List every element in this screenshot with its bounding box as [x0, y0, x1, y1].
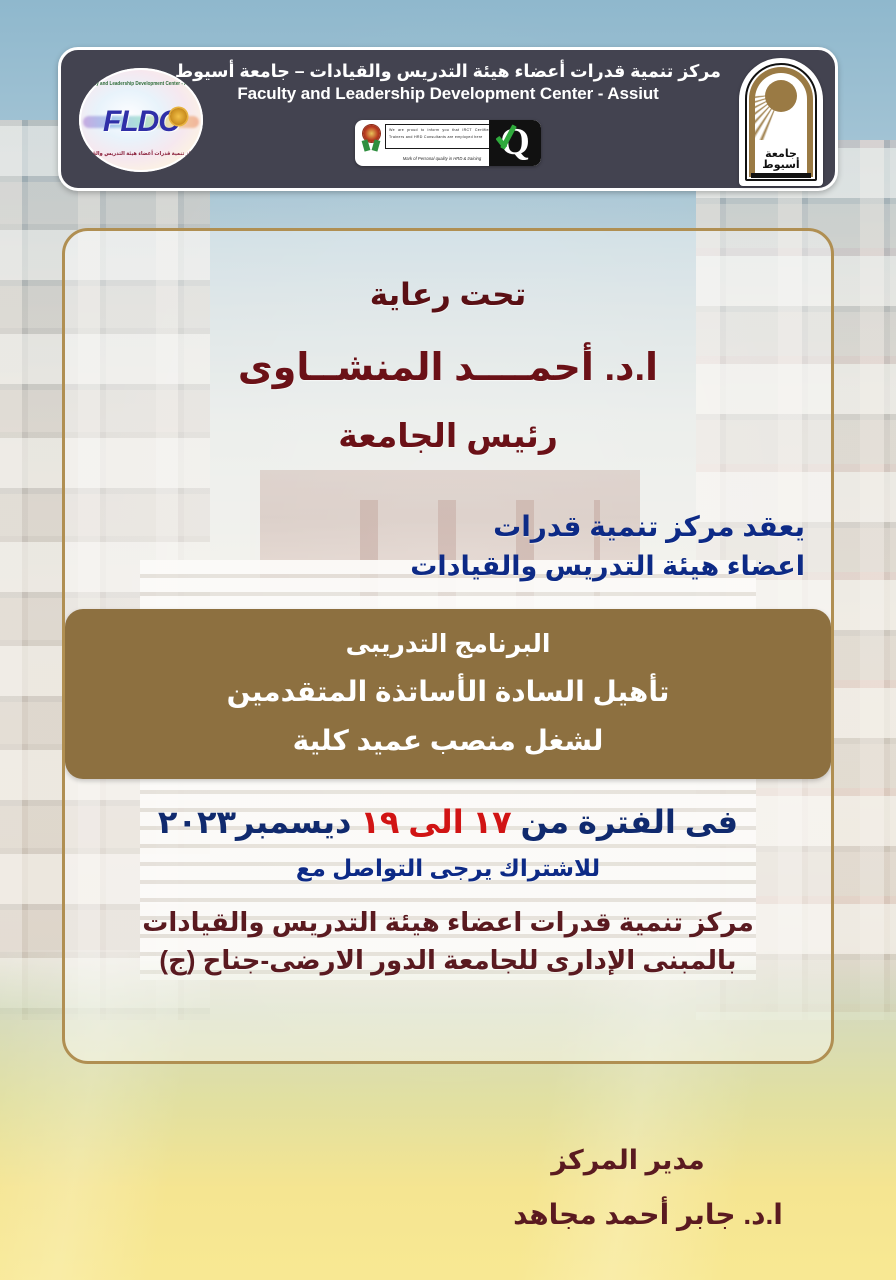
- contact-cta: للاشتراك يرجى التواصل مع: [91, 855, 805, 882]
- patron-role: رئيس الجامعة: [91, 416, 805, 455]
- signature-role: مدير المركز: [360, 1145, 896, 1176]
- signature-name: ا.د. جابر أحمد مجاهد: [400, 1198, 896, 1231]
- event-dates-suffix: ديسمبر٢٠٢٣: [158, 804, 352, 840]
- assiut-logo-rays-icon: [752, 94, 810, 140]
- assiut-logo-name-line2: أسيوط: [739, 160, 823, 172]
- address-line-2: بالمبنى الإدارى للجامعة الدور الارضى-جنا…: [91, 942, 805, 980]
- footer-signature: مدير المركز ا.د. جابر أحمد مجاهد: [0, 1145, 896, 1231]
- patron-prefix: تحت رعاية: [91, 277, 805, 313]
- organizer-line-2: اعضاء هيئة التدريس والقيادات: [91, 547, 805, 585]
- quality-badge: We are proud to inform you that IRCT Cer…: [355, 120, 541, 166]
- assiut-logo-base: [751, 173, 811, 178]
- patron-name: ا.د. أحمــــد المنشــاوى: [91, 345, 805, 390]
- assiut-university-logo: جامعة أسيوط: [739, 58, 823, 186]
- organizer-line-1: يعقد مركز تنمية قدرات: [91, 507, 805, 547]
- organizer-block: يعقد مركز تنمية قدرات اعضاء هيئة التدريس…: [91, 507, 805, 585]
- green-check-icon: [497, 123, 523, 153]
- fldc-logo-seal-icon: [170, 108, 187, 125]
- fldc-logo-arc-bottom-text: مركز تنمية قدرات أعضاء هيئة التدريس والق…: [84, 151, 198, 157]
- address-block: مركز تنمية قدرات اعضاء هيئة التدريس والق…: [91, 904, 805, 979]
- event-dates-range: ١٧ الى ١٩: [360, 804, 511, 840]
- event-dates: فى الفترة من ١٧ الى ١٩ ديسمبر٢٠٢٣: [91, 803, 805, 841]
- quality-mark-icon: Q: [489, 120, 541, 166]
- assiut-logo-name: جامعة أسيوط: [739, 149, 823, 172]
- header-title-arabic: مركز تنمية قدرات أعضاء هيئة التدريس والق…: [61, 60, 835, 83]
- quality-badge-statement: We are proud to inform you that IRCT Cer…: [385, 124, 495, 149]
- program-box-line-3: لشغل منصب عميد كلية: [83, 724, 813, 757]
- address-line-1: مركز تنمية قدرات اعضاء هيئة التدريس والق…: [91, 904, 805, 942]
- header-titles: مركز تنمية قدرات أعضاء هيئة التدريس والق…: [61, 60, 835, 106]
- poster-root: Faculty and Leadership Development Cente…: [0, 0, 896, 1280]
- header-title-english: Faculty and Leadership Development Cente…: [61, 83, 835, 105]
- main-content-card: تحت رعاية ا.د. أحمــــد المنشــاوى رئيس …: [62, 228, 834, 1064]
- rosette-icon: [360, 125, 382, 151]
- header-card: Faculty and Leadership Development Cente…: [58, 47, 838, 191]
- program-box-line-2: تأهيل السادة الأساتذة المتقدمين: [83, 675, 813, 708]
- quality-badge-tagline: Mark of Personal quality in HRD & traini…: [383, 156, 501, 161]
- program-box-line-1: البرنامج التدريبى: [83, 629, 813, 659]
- program-box: البرنامج التدريبى تأهيل السادة الأساتذة …: [65, 609, 831, 779]
- event-dates-prefix: فى الفترة من: [521, 804, 739, 840]
